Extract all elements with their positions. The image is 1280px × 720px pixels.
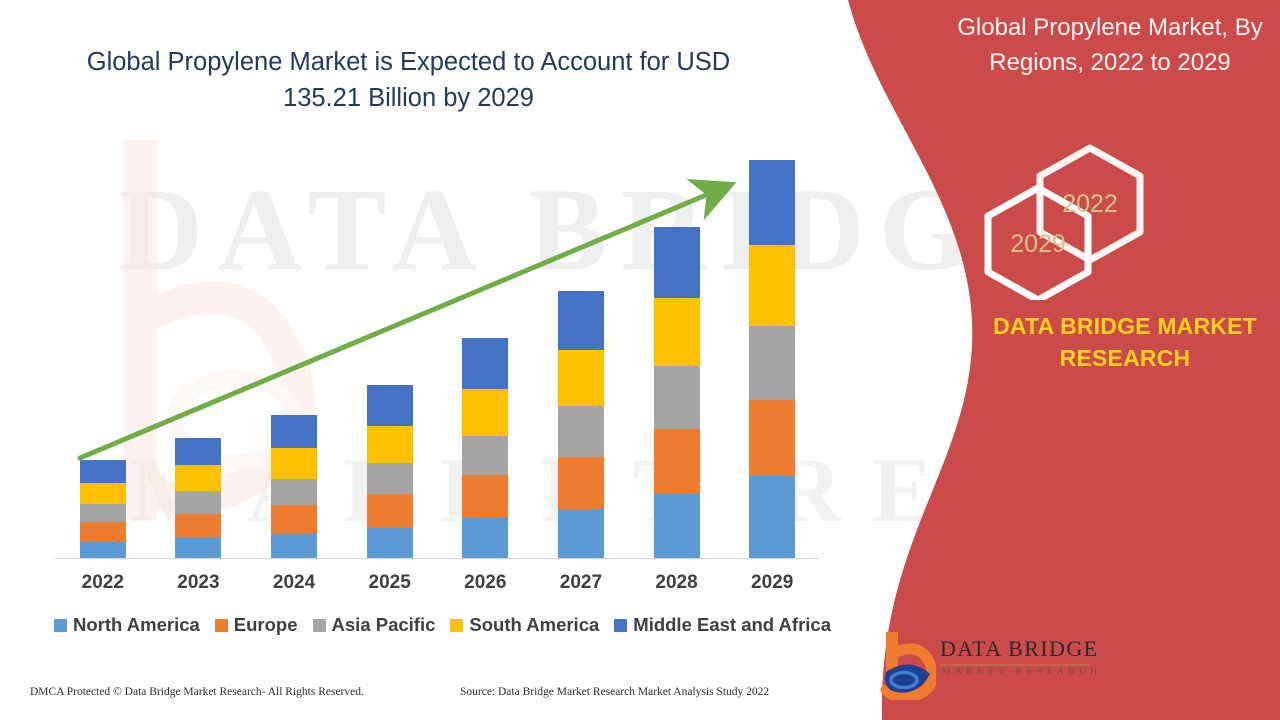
x-axis-label-2026: 2026 xyxy=(445,572,525,594)
bar-segment-middle-east-and-africa xyxy=(462,338,508,389)
bar-2022[interactable] xyxy=(80,460,126,558)
infographic-canvas: DATA BRIDGE MARKET RESEARCH Global Propy… xyxy=(0,0,1280,720)
logo-text-primary: DATA BRIDGE xyxy=(940,636,1098,662)
logo-text-secondary: MARKET RESEARCH xyxy=(942,667,1101,677)
legend-swatch-icon xyxy=(313,619,326,632)
bar-segment-north-america xyxy=(462,518,508,558)
bar-segment-south-america xyxy=(367,426,413,463)
bar-segment-asia-pacific xyxy=(367,463,413,494)
chart-legend: North AmericaEuropeAsia PacificSouth Ame… xyxy=(55,614,830,636)
bar-segment-europe xyxy=(271,505,317,533)
legend-item-europe[interactable]: Europe xyxy=(215,614,298,636)
bar-2027[interactable] xyxy=(558,291,604,558)
bar-segment-asia-pacific xyxy=(175,491,221,513)
panel-title: Global Propylene Market, By Regions, 202… xyxy=(952,10,1268,80)
bar-segment-europe xyxy=(367,494,413,529)
legend-label: Asia Pacific xyxy=(332,614,436,636)
logo-divider xyxy=(940,664,1090,666)
bar-segment-south-america xyxy=(654,298,700,366)
bar-segment-north-america xyxy=(749,476,795,558)
bar-segment-europe xyxy=(462,475,508,518)
brand-name: DATA BRIDGE MARKET RESEARCH xyxy=(975,310,1275,374)
x-axis-label-2024: 2024 xyxy=(254,572,334,594)
bar-segment-north-america xyxy=(654,494,700,558)
legend-swatch-icon xyxy=(215,619,228,632)
data-bridge-logo-icon xyxy=(880,632,936,700)
bar-segment-europe xyxy=(80,522,126,542)
legend-label: South America xyxy=(469,614,599,636)
bar-2025[interactable] xyxy=(367,385,413,558)
legend-item-north-america[interactable]: North America xyxy=(54,614,200,636)
hexagon-years-graphic: 2022 2029 xyxy=(980,140,1190,300)
legend-label: Europe xyxy=(234,614,298,636)
bar-segment-asia-pacific xyxy=(80,504,126,523)
bar-segment-south-america xyxy=(271,448,317,479)
bar-segment-europe xyxy=(558,457,604,509)
legend-label: North America xyxy=(73,614,200,636)
hexagon-year-2029: 2029 xyxy=(988,230,1088,259)
bar-segment-middle-east-and-africa xyxy=(558,291,604,350)
bar-2026[interactable] xyxy=(462,338,508,558)
bar-segment-europe xyxy=(654,429,700,493)
bar-segment-north-america xyxy=(175,537,221,558)
hexagon-year-2022: 2022 xyxy=(1040,190,1140,219)
legend-swatch-icon xyxy=(450,619,463,632)
legend-swatch-icon xyxy=(54,619,67,632)
bar-segment-south-america xyxy=(462,389,508,436)
x-axis-label-2027: 2027 xyxy=(541,572,621,594)
bar-segment-south-america xyxy=(749,245,795,325)
legend-item-asia-pacific[interactable]: Asia Pacific xyxy=(313,614,436,636)
bar-segment-south-america xyxy=(175,465,221,491)
bar-segment-asia-pacific xyxy=(654,366,700,429)
bar-segment-middle-east-and-africa xyxy=(367,385,413,426)
x-axis-label-2025: 2025 xyxy=(350,572,430,594)
legend-item-south-america[interactable]: South America xyxy=(450,614,599,636)
bar-segment-north-america xyxy=(558,509,604,558)
bar-segment-middle-east-and-africa xyxy=(749,160,795,245)
legend-label: Middle East and Africa xyxy=(633,614,831,636)
bar-2029[interactable] xyxy=(749,160,795,558)
legend-item-middle-east-and-africa[interactable]: Middle East and Africa xyxy=(614,614,831,636)
x-axis-label-2029: 2029 xyxy=(732,572,812,594)
bar-segment-south-america xyxy=(558,350,604,406)
bar-segment-middle-east-and-africa xyxy=(654,227,700,299)
bar-segment-middle-east-and-africa xyxy=(80,460,126,482)
bar-segment-middle-east-and-africa xyxy=(175,438,221,465)
bar-segment-north-america xyxy=(80,542,126,558)
bar-segment-north-america xyxy=(367,528,413,558)
company-logo: DATA BRIDGE MARKET RESEARCH xyxy=(880,630,1110,698)
bar-segment-europe xyxy=(175,514,221,537)
x-axis-label-2022: 2022 xyxy=(63,572,143,594)
bar-segment-asia-pacific xyxy=(749,326,795,400)
hexagon-outlines-icon xyxy=(980,140,1190,300)
stacked-bar-chart: 20222023202420252026202720282029 xyxy=(0,0,850,600)
x-axis-label-2028: 2028 xyxy=(637,572,717,594)
bar-segment-south-america xyxy=(80,483,126,504)
bar-2028[interactable] xyxy=(654,227,700,558)
bar-segment-north-america xyxy=(271,533,317,558)
bar-segment-asia-pacific xyxy=(558,406,604,457)
footer-copyright: DMCA Protected © Data Bridge Market Rese… xyxy=(30,686,364,698)
bar-2024[interactable] xyxy=(271,415,317,558)
x-axis-label-2023: 2023 xyxy=(158,572,238,594)
legend-swatch-icon xyxy=(614,619,627,632)
bar-segment-europe xyxy=(749,400,795,477)
bar-segment-asia-pacific xyxy=(271,479,317,505)
bar-segment-asia-pacific xyxy=(462,436,508,476)
bar-2023[interactable] xyxy=(175,438,221,558)
bars-container xyxy=(55,160,820,558)
footer-source: Source: Data Bridge Market Research Mark… xyxy=(460,686,769,698)
bar-segment-middle-east-and-africa xyxy=(271,415,317,448)
x-axis-line xyxy=(55,558,820,559)
